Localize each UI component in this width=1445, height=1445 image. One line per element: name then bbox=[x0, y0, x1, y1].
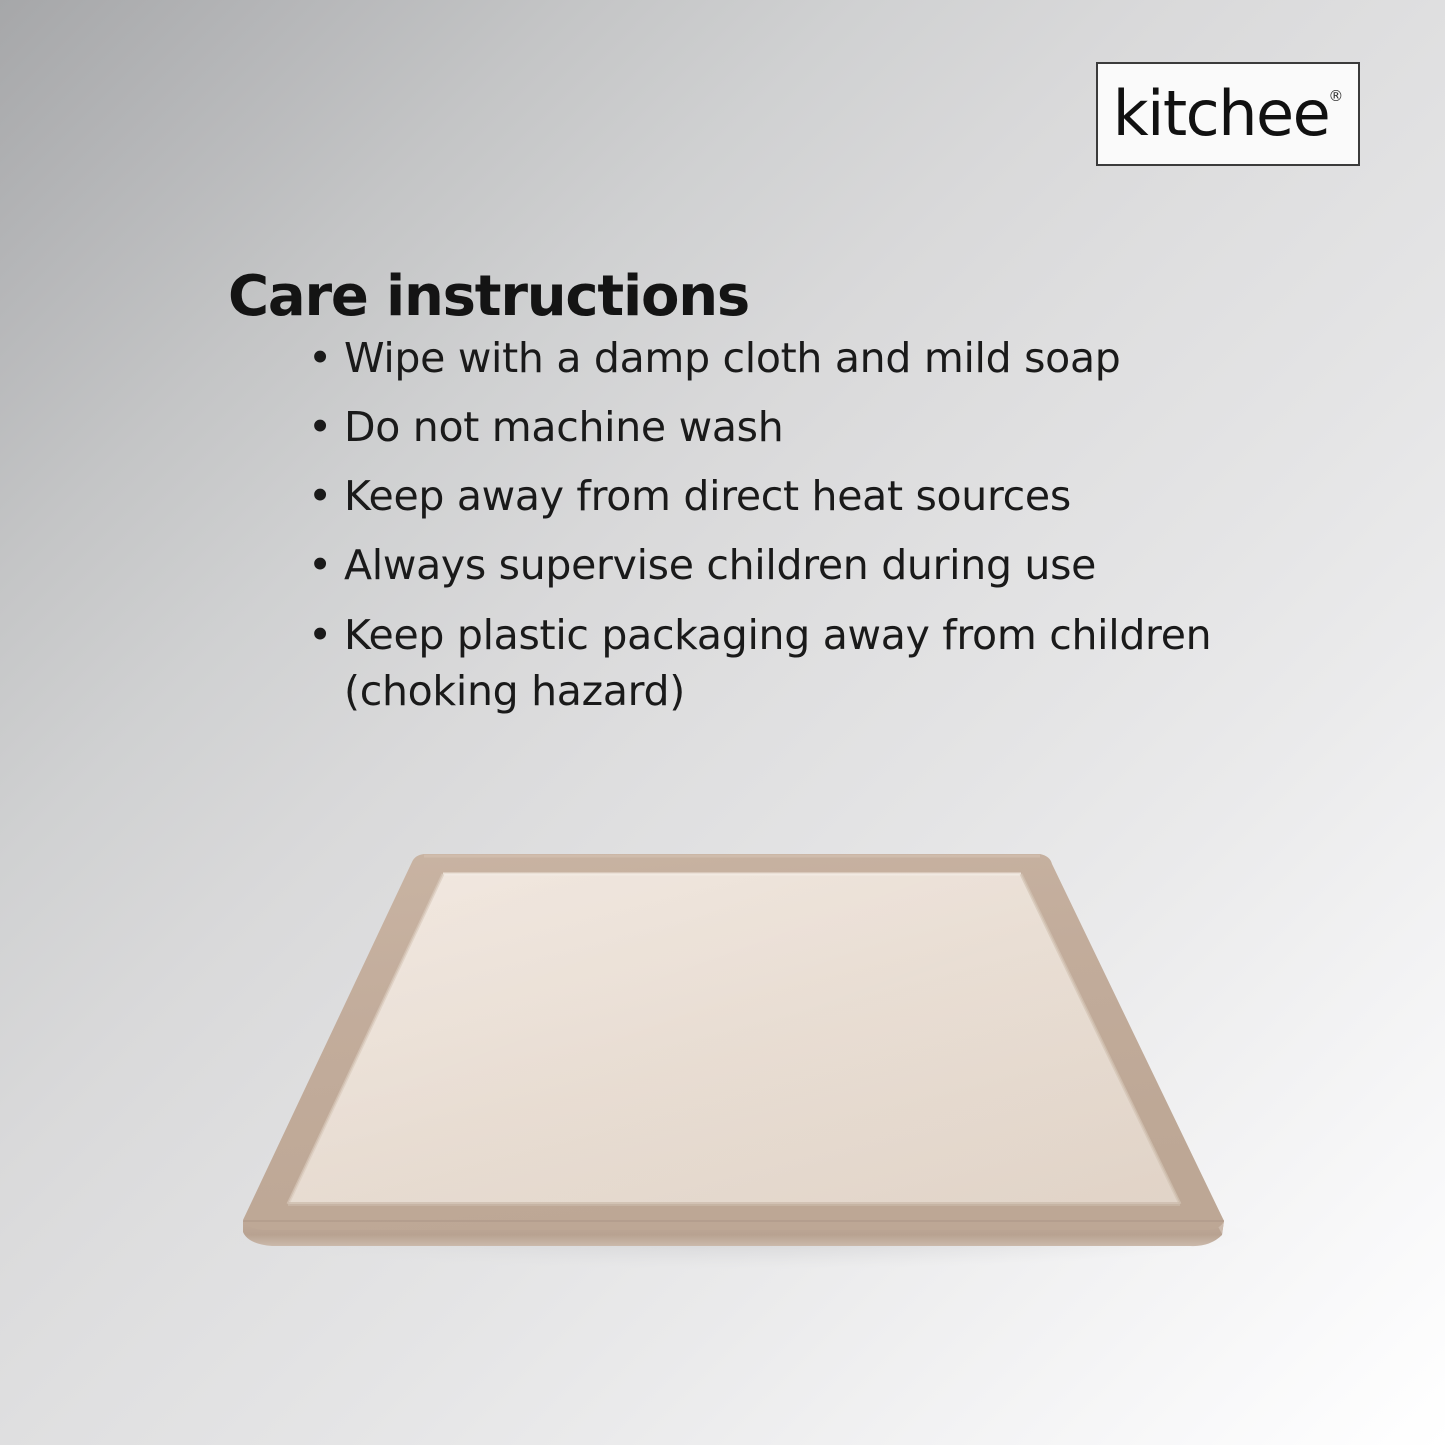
brand-logo-text: kitchee bbox=[1113, 83, 1330, 145]
list-item: • Keep plastic packaging away from child… bbox=[300, 607, 1300, 719]
list-item-label: Keep away from direct heat sources bbox=[344, 472, 1071, 520]
care-instructions-page: kitchee ® Care instructions • Wipe with … bbox=[0, 0, 1445, 1445]
list-item-label: Wipe with a damp cloth and mild soap bbox=[344, 334, 1121, 382]
bullet-icon: • bbox=[308, 537, 332, 593]
brand-logo: kitchee ® bbox=[1096, 62, 1360, 166]
list-item-label: Do not machine wash bbox=[344, 403, 783, 451]
list-item: • Do not machine wash bbox=[300, 399, 1300, 455]
product-image bbox=[0, 780, 1445, 1300]
list-item-label: Always supervise children during use bbox=[344, 541, 1096, 589]
care-instructions-list: • Wipe with a damp cloth and mild soap •… bbox=[300, 330, 1300, 732]
list-item-label: Keep plastic packaging away from childre… bbox=[344, 611, 1211, 715]
bullet-icon: • bbox=[308, 399, 332, 455]
page-title: Care instructions bbox=[228, 266, 749, 328]
list-item: • Wipe with a damp cloth and mild soap bbox=[300, 330, 1300, 386]
play-mat-illustration bbox=[0, 780, 1445, 1300]
bullet-icon: • bbox=[308, 330, 332, 386]
list-item: • Always supervise children during use bbox=[300, 537, 1300, 593]
brand-logo-wrap: kitchee ® bbox=[1113, 83, 1344, 145]
bullet-icon: • bbox=[308, 607, 332, 663]
list-item: • Keep away from direct heat sources bbox=[300, 468, 1300, 524]
bullet-icon: • bbox=[308, 468, 332, 524]
registered-trademark-icon: ® bbox=[1328, 89, 1343, 104]
